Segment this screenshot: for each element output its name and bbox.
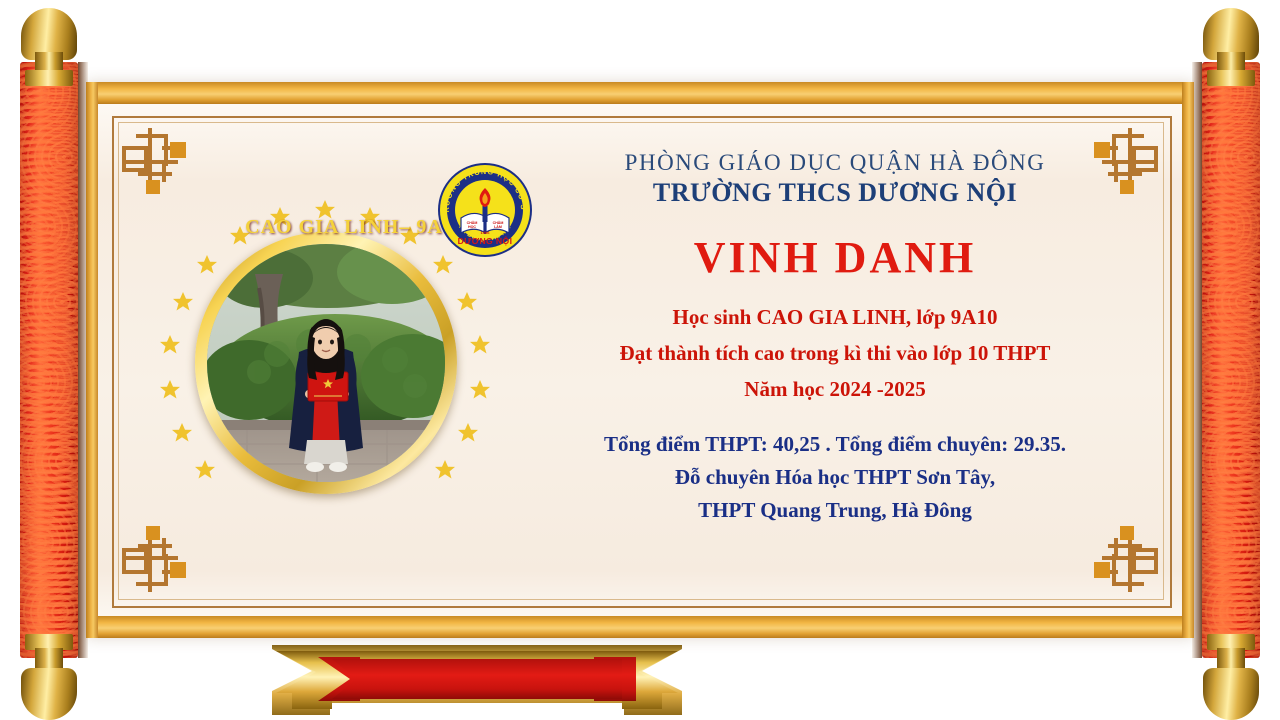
finial-collar <box>25 70 73 86</box>
student-line: Học sinh CAO GIA LINH, lớp 9A10 <box>505 305 1165 330</box>
svg-text:HỌC: HỌC <box>468 225 476 229</box>
department-line: PHÒNG GIÁO DỤC QUẬN HÀ ĐÔNG <box>505 150 1165 176</box>
border-band-bottom <box>86 616 1194 638</box>
scroll-rod-right <box>1202 62 1260 658</box>
certificate-title: VINH DANH <box>505 232 1165 283</box>
svg-text:LÀM: LÀM <box>494 224 502 229</box>
student-photo <box>207 244 445 482</box>
logo-year: 1966 <box>481 230 491 235</box>
scroll-rod-left <box>20 62 78 658</box>
school-line: TRƯỜNG THCS DƯƠNG NỘI <box>505 178 1165 208</box>
finial-dome-icon <box>21 668 77 720</box>
certificate-text-block: PHÒNG GIÁO DỤC QUẬN HÀ ĐÔNG TRƯỜNG THCS … <box>505 150 1165 523</box>
result-line-2: THPT Quang Trung, Hà Đông <box>505 498 1165 523</box>
name-ribbon <box>272 645 682 719</box>
score-block: Tổng điểm THPT: 40,25 . Tổng điểm chuyên… <box>505 432 1165 523</box>
finial-neck <box>35 648 63 670</box>
border-band-top <box>86 82 1194 104</box>
border-band-left <box>86 82 98 638</box>
certificate-canvas: CAO GIA LINH– 9A10 TRƯỜNG TRUNG HỌC CƠ S… <box>0 0 1280 720</box>
corner-ornament-bottom-right <box>1076 512 1162 598</box>
result-line-1: Đỗ chuyên Hóa học THPT Sơn Tây, <box>505 465 1165 490</box>
border-band-right <box>1182 82 1194 638</box>
school-year-line: Năm học 2024 -2025 <box>505 377 1165 402</box>
finial-dome-icon <box>1203 668 1259 720</box>
certificate-body: Học sinh CAO GIA LINH, lớp 9A10 Đạt thàn… <box>505 305 1165 402</box>
achievement-line: Đạt thành tích cao trong kì thi vào lớp … <box>505 341 1165 366</box>
total-score-line: Tổng điểm THPT: 40,25 . Tổng điểm chuyên… <box>505 432 1165 457</box>
finial-collar <box>1207 70 1255 86</box>
finial-neck <box>1217 648 1245 670</box>
